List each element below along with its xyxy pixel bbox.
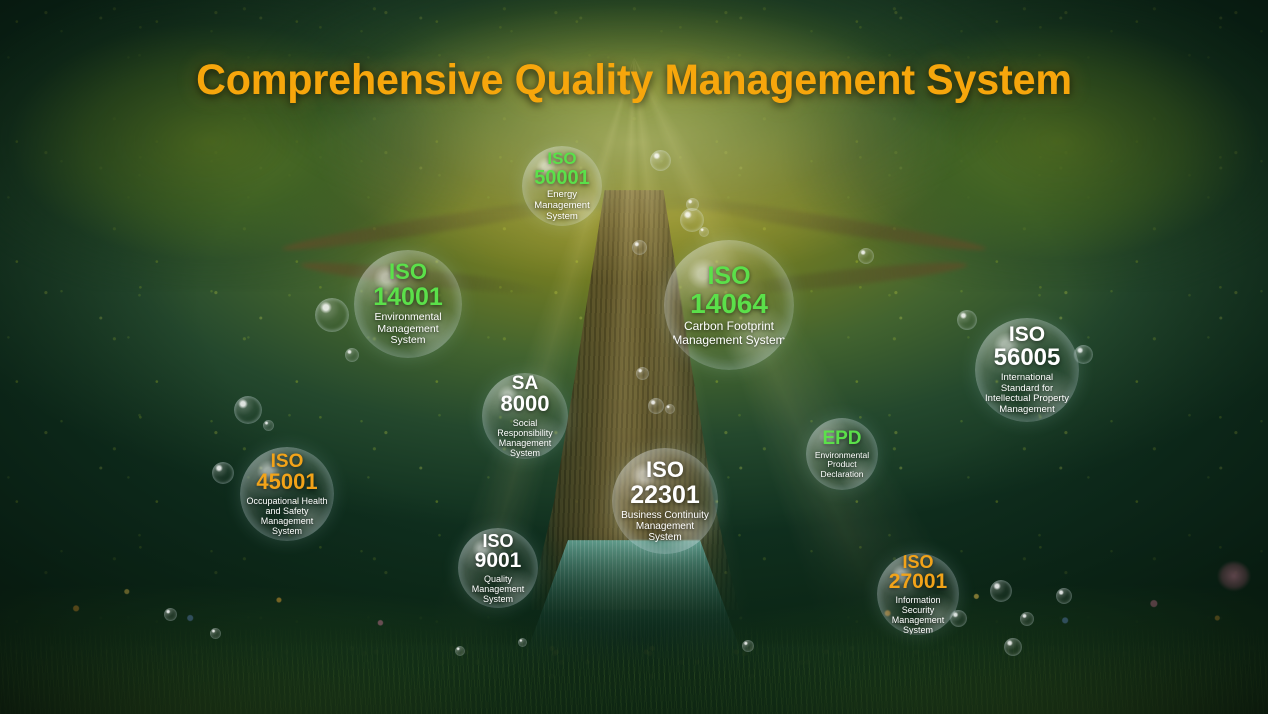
bubble-code-number: 56005: [994, 346, 1061, 371]
bubble-description: Energy Management System: [522, 190, 602, 222]
bubble-code: ISO: [389, 261, 427, 284]
bubble-code: ISO: [707, 263, 750, 289]
certification-bubble-sa-8000[interactable]: SA8000Social Responsibility Management S…: [482, 373, 568, 459]
bubble-description: Information Security Management System: [877, 595, 959, 635]
certification-bubble-iso-50001[interactable]: ISO50001Energy Management System: [522, 146, 602, 226]
decorative-bubble: [345, 348, 359, 362]
bubble-description: Environmental Product Declaration: [806, 451, 878, 480]
bubble-description: Environmental Management System: [354, 312, 462, 347]
bubble-code-number: 14064: [690, 289, 768, 318]
bubble-code: ISO: [547, 150, 576, 168]
certification-bubble-epd[interactable]: EPDEnvironmental Product Declaration: [806, 418, 878, 490]
canopy-center: [244, 0, 1024, 210]
decorative-bubble: [234, 396, 262, 424]
bubble-description: Business Continuity Management System: [612, 510, 718, 544]
decorative-bubble: [212, 462, 234, 484]
certification-bubble-iso-45001[interactable]: ISO45001Occupational Health and Safety M…: [240, 447, 334, 541]
bubble-code-number: 14001: [373, 284, 443, 310]
certification-bubble-iso-27001[interactable]: ISO27001Information Security Management …: [877, 553, 959, 635]
bubble-code: EPD: [822, 429, 861, 449]
grass-blades: [0, 624, 1268, 714]
pink-flower: [1212, 556, 1256, 596]
bubble-description: International Standard for Intellectual …: [975, 373, 1079, 416]
bubble-code-number: 27001: [889, 571, 947, 593]
certification-bubble-iso-14001[interactable]: ISO14001Environmental Management System: [354, 250, 462, 358]
certification-bubble-iso-56005[interactable]: ISO56005International Standard for Intel…: [975, 318, 1079, 422]
bubble-code-number: 8000: [501, 393, 550, 416]
certification-bubble-iso-9001[interactable]: ISO9001Quality Management System: [458, 528, 538, 608]
decorative-bubble: [957, 310, 977, 330]
bubble-code: ISO: [646, 459, 684, 482]
bubble-description: Quality Management System: [458, 574, 538, 604]
bubble-description: Carbon Footprint Management System: [664, 320, 794, 347]
decorative-bubble: [680, 208, 704, 232]
decorative-bubble: [263, 420, 274, 431]
bubble-description: Social Responsibility Management System: [482, 418, 568, 458]
slide-canvas: Comprehensive Quality Management System …: [0, 0, 1268, 714]
decorative-bubble: [315, 298, 349, 332]
bubble-code: ISO: [482, 532, 513, 551]
bubble-code-number: 9001: [475, 550, 522, 572]
certification-bubble-iso-14064[interactable]: ISO14064Carbon Footprint Management Syst…: [664, 240, 794, 370]
bubble-code: ISO: [902, 553, 933, 571]
bubble-code: ISO: [1009, 324, 1045, 346]
bubble-code-number: 45001: [256, 471, 317, 494]
page-title: Comprehensive Quality Management System: [25, 56, 1242, 105]
bubble-code-number: 22301: [630, 482, 700, 508]
bubble-code-number: 50001: [534, 168, 590, 189]
decorative-bubble: [699, 227, 709, 237]
bubble-description: Occupational Health and Safety Managemen…: [240, 496, 334, 536]
certification-bubble-iso-22301[interactable]: ISO22301Business Continuity Management S…: [612, 448, 718, 554]
